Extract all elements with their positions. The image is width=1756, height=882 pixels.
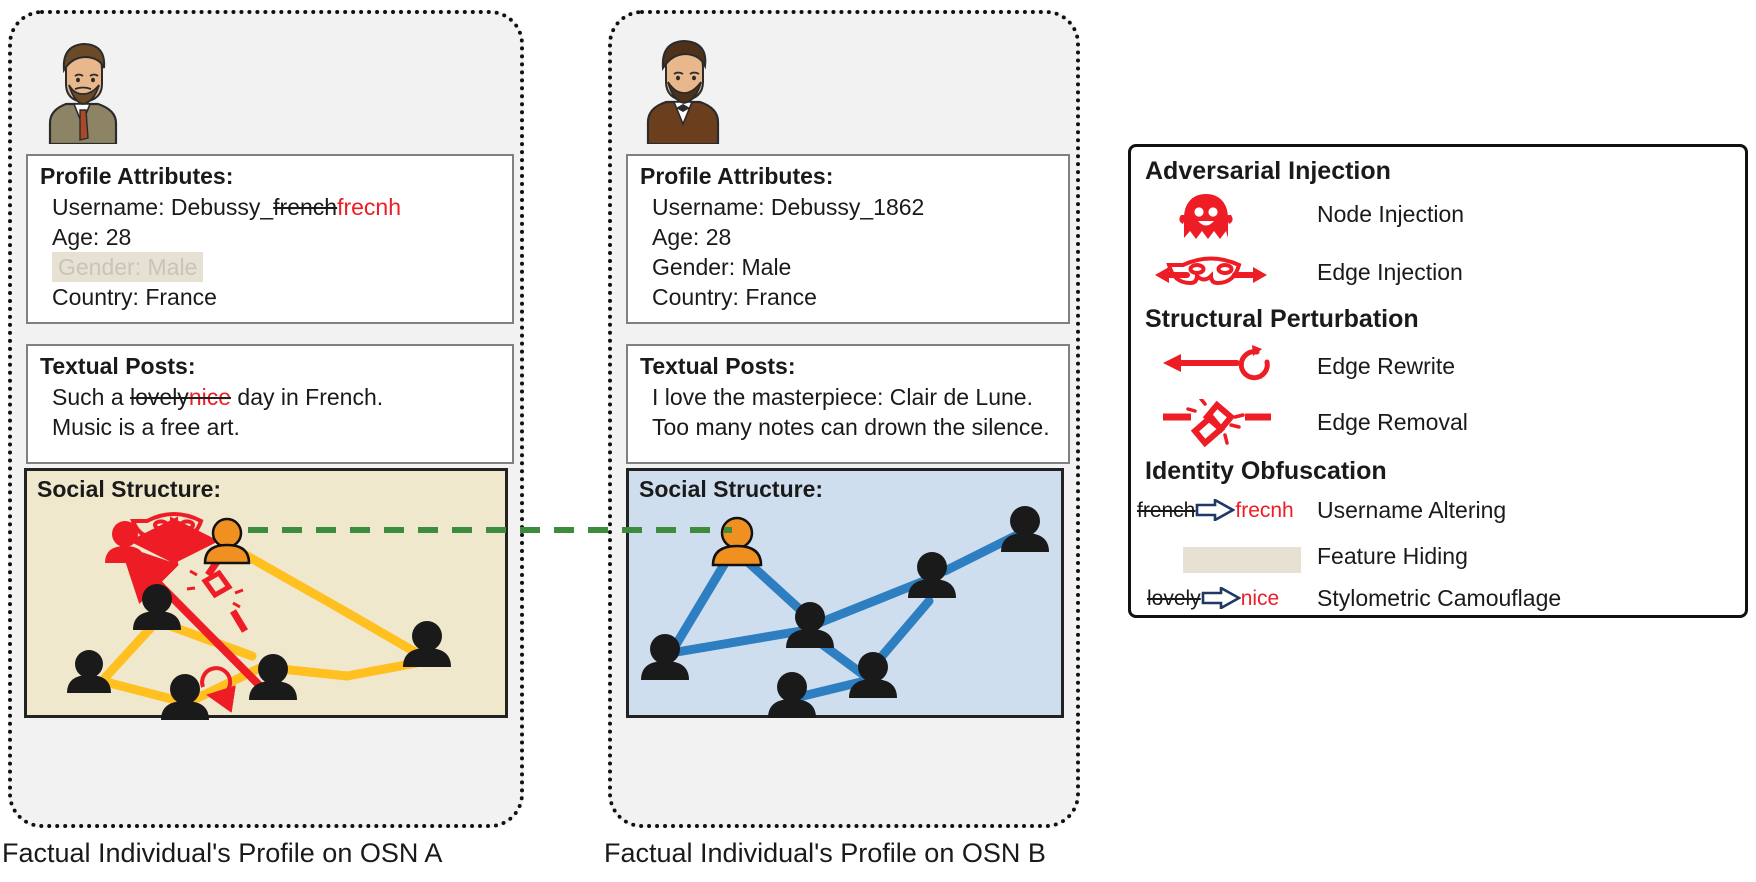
post-line-1-a: Such a lovelynice day in French. [52, 382, 512, 412]
post-prefix: Such a [52, 384, 130, 410]
text-swap-icon-stylometric: lovely nice [1147, 587, 1279, 611]
social-graph-a [27, 471, 511, 721]
legend-group-title-structural-perturbation: Structural Perturbation [1145, 305, 1419, 334]
broken-edge-icon [1161, 399, 1273, 449]
ego-node-a [205, 519, 249, 563]
age-row-b: Age: 28 [652, 222, 1068, 252]
mask-icon-a [133, 514, 201, 537]
social-structure-panel-a: Social Structure: [24, 468, 508, 718]
username-new-value: frecnh [337, 194, 401, 220]
gender-row-a: Gender: Male [52, 252, 512, 282]
profile-attributes-heading: Profile Attributes: [640, 163, 1068, 190]
legend-group-title-adversarial-injection: Adversarial Injection [1145, 157, 1391, 186]
age-row-a: Age: 28 [52, 222, 512, 252]
legend-label-feature-hiding: Feature Hiding [1317, 543, 1468, 570]
textual-posts-heading: Textual Posts: [640, 353, 1068, 380]
textual-posts-heading: Textual Posts: [40, 353, 512, 380]
social-structure-panel-b: Social Structure: [626, 468, 1064, 718]
post-suffix: day in French. [231, 384, 383, 410]
arrow-rotate-icon [1161, 343, 1273, 385]
caption-osn-b: Factual Individual's Profile on OSN B [604, 838, 1046, 869]
profile-attributes-box-a: Profile Attributes: Username: Debussy_fr… [26, 154, 514, 324]
mask-double-arrow-icon [1153, 249, 1269, 293]
swap-arrow-icon [1195, 499, 1235, 521]
username-row-a: Username: Debussy_frenchfrecnh [52, 192, 512, 222]
style-swap-old: lovely [1147, 587, 1201, 610]
text-swap-icon-username: french frecnh [1137, 499, 1294, 523]
debussy-portrait-avatar-a [30, 28, 134, 144]
legend-label-stylometric-camouflage: Stylometric Camouflage [1317, 585, 1561, 612]
legend-group-title-identity-obfuscation: Identity Obfuscation [1145, 457, 1387, 486]
username-old-value: french [273, 194, 337, 220]
country-row-a: Country: France [52, 282, 512, 312]
username-swap-new: frecnh [1235, 499, 1293, 522]
legend-label-username-altering: Username Altering [1317, 497, 1506, 524]
social-structure-heading-a: Social Structure: [37, 476, 221, 503]
country-row-b: Country: France [652, 282, 1068, 312]
caption-osn-a: Factual Individual's Profile on OSN A [2, 838, 442, 869]
ego-node-b [713, 518, 761, 565]
textual-posts-box-b: Textual Posts: I love the masterpiece: C… [626, 344, 1070, 464]
legend-label-edge-removal: Edge Removal [1317, 409, 1468, 436]
injected-node-a [105, 521, 145, 563]
ghost-icon [1177, 191, 1235, 243]
username-label: Username: Debussy_ [52, 194, 273, 220]
feature-hiding-highlight: Gender: Male [52, 252, 203, 282]
post-line-2-b: Too many notes can drown the silence. [652, 412, 1068, 442]
username-swap-old: french [1137, 499, 1195, 522]
feature-hiding-swatch [1183, 547, 1301, 573]
style-swap-new: nice [1241, 587, 1280, 610]
legend-panel: Adversarial Injection Node Injection Edg… [1128, 144, 1748, 618]
social-graph-b [629, 471, 1067, 721]
gender-row-b: Gender: Male [652, 252, 1068, 282]
legend-label-edge-injection: Edge Injection [1317, 259, 1463, 286]
debussy-portrait-avatar-b [630, 28, 734, 144]
social-structure-heading-b: Social Structure: [639, 476, 823, 503]
post-new-word: nice [189, 384, 231, 410]
profile-attributes-box-b: Profile Attributes: Username: Debussy_18… [626, 154, 1070, 324]
post-old-word: lovely [130, 384, 189, 410]
textual-posts-box-a: Textual Posts: Such a lovelynice day in … [26, 344, 514, 464]
post-line-2-a: Music is a free art. [52, 412, 512, 442]
legend-label-node-injection: Node Injection [1317, 201, 1464, 228]
legend-label-edge-rewrite: Edge Rewrite [1317, 353, 1455, 380]
swap-arrow-icon [1201, 587, 1241, 609]
username-row-b: Username: Debussy_1862 [652, 192, 1068, 222]
post-line-1-b: I love the masterpiece: Clair de Lune. [652, 382, 1068, 412]
profile-attributes-heading: Profile Attributes: [40, 163, 512, 190]
